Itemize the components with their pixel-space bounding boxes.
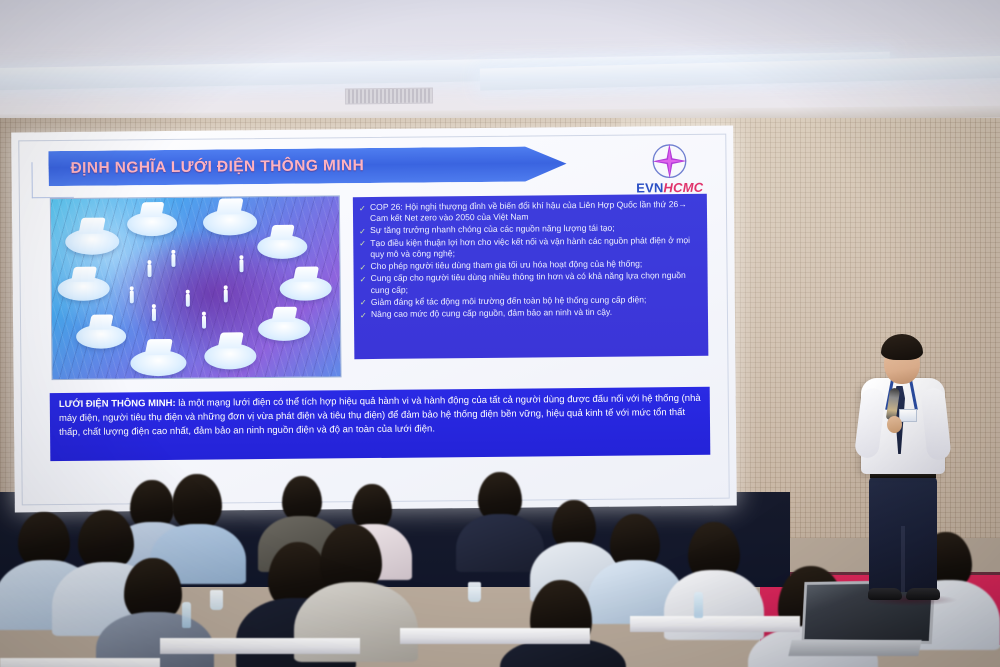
paper-cup bbox=[468, 582, 481, 602]
grid-figure bbox=[202, 316, 206, 329]
evn-star-icon bbox=[648, 140, 690, 182]
presenter bbox=[840, 330, 990, 620]
presenter-shoe-right bbox=[906, 588, 940, 600]
water-bottle bbox=[182, 602, 191, 628]
bullet-item: ✓ Nâng cao mức độ cung cấp nguồn, đảm bả… bbox=[360, 306, 700, 321]
bullet-text: COP 26: Hội nghị thượng đỉnh về biến đổi… bbox=[370, 199, 699, 225]
page-title: ĐỊNH NGHĨA LƯỚI ĐIỆN THÔNG MINH bbox=[48, 157, 364, 178]
grid-figure bbox=[171, 254, 175, 267]
evn-hcmc-logo: EVNHCMC bbox=[621, 140, 718, 196]
bullet-item: ✓ Tạo điều kiện thuận lợi hơn cho việc k… bbox=[359, 235, 699, 261]
grid-figure bbox=[152, 308, 156, 321]
check-mark-icon: ✓ bbox=[359, 261, 370, 273]
presenter-leg-seam bbox=[901, 526, 905, 592]
bullet-text: Cung cấp cho người tiêu dùng nhiều thông… bbox=[371, 270, 700, 296]
presenter-badge bbox=[899, 409, 917, 422]
check-mark-icon: ✓ bbox=[360, 309, 371, 321]
presenter-shoe-left bbox=[868, 588, 902, 600]
conference-table bbox=[400, 628, 590, 644]
check-mark-icon: ✓ bbox=[360, 273, 371, 285]
definition-term: LƯỚI ĐIỆN THÔNG MINH: bbox=[59, 398, 176, 410]
check-mark-icon: ✓ bbox=[359, 202, 370, 214]
audience-person bbox=[172, 474, 222, 530]
check-mark-icon: ✓ bbox=[359, 238, 370, 250]
conference-table bbox=[160, 638, 360, 654]
check-mark-icon: ✓ bbox=[360, 297, 371, 309]
grid-figure bbox=[130, 290, 134, 303]
logo-evn-text: EVN bbox=[636, 180, 663, 195]
audience-person bbox=[456, 514, 544, 572]
audience-person bbox=[78, 510, 134, 570]
bullet-text: Nâng cao mức độ cung cấp nguồn, đảm bảo … bbox=[371, 306, 700, 321]
water-bottle bbox=[694, 592, 703, 618]
bullet-text: Tạo điều kiện thuận lợi hơn cho việc kết… bbox=[370, 235, 699, 261]
air-vent-icon bbox=[345, 88, 433, 105]
presenter-hair bbox=[881, 334, 923, 360]
presenter-hand bbox=[887, 416, 902, 433]
paper-cup bbox=[210, 590, 223, 610]
slide-bullet-list: ✓ COP 26: Hội nghị thượng đỉnh về biến đ… bbox=[353, 194, 709, 359]
projection-screen: ĐỊNH NGHĨA LƯỚI ĐIỆN THÔNG MINH EVNHCMC bbox=[11, 126, 737, 513]
conference-table bbox=[0, 658, 160, 667]
conference-table bbox=[630, 616, 800, 632]
slide-title-banner: ĐỊNH NGHĨA LƯỚI ĐIỆN THÔNG MINH bbox=[48, 146, 566, 186]
grid-figure bbox=[239, 259, 243, 272]
smart-grid-illustration bbox=[50, 195, 342, 380]
bullet-item: ✓ COP 26: Hội nghị thượng đỉnh về biến đ… bbox=[359, 199, 699, 225]
bullet-item: ✓ Cung cấp cho người tiêu dùng nhiều thô… bbox=[360, 270, 700, 296]
laptop-keyboard bbox=[788, 640, 921, 656]
grid-figure bbox=[186, 294, 190, 307]
check-mark-icon: ✓ bbox=[359, 225, 370, 237]
grid-figure bbox=[147, 264, 151, 277]
grid-figure bbox=[224, 289, 228, 302]
definition-callout: LƯỚI ĐIỆN THÔNG MINH: là một mạng lưới đ… bbox=[50, 387, 711, 461]
